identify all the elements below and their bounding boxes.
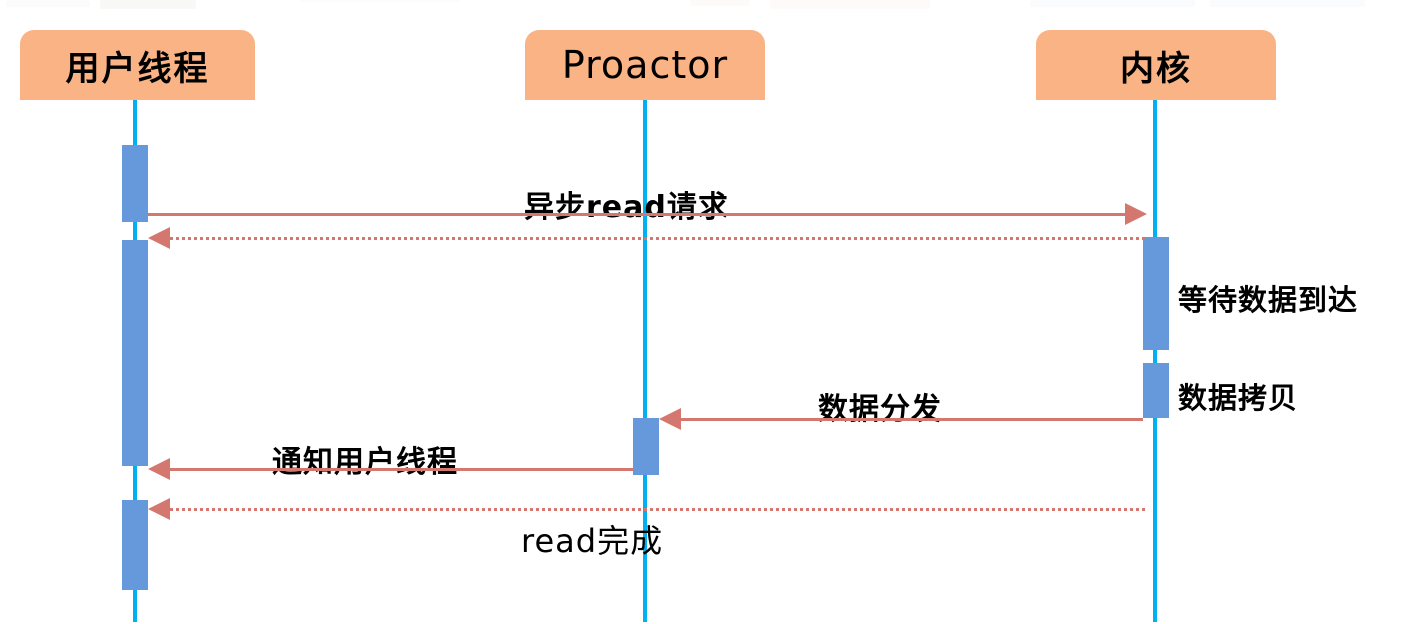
message-arrowhead-notify-user-thread <box>148 458 170 480</box>
participant-user-thread[interactable]: 用户线程 <box>20 30 255 100</box>
message-label-async-read-request: 异步read请求 <box>524 182 729 226</box>
participant-kernel[interactable]: 内核 <box>1036 30 1276 100</box>
note-copy-data: 数据拷贝 <box>1178 375 1298 417</box>
message-line-read-complete <box>170 508 1145 511</box>
lifeline-kernel <box>1153 100 1157 622</box>
sequence-diagram-canvas: 用户线程 Proactor 内核 异步read请求 等待数据到达 数据拷贝 数据… <box>0 0 1404 624</box>
activation-user-thread-3 <box>122 500 148 590</box>
page-artifact <box>1030 0 1195 7</box>
page-artifact <box>690 0 750 6</box>
note-wait-for-data: 等待数据到达 <box>1178 277 1358 319</box>
activation-kernel-2 <box>1143 363 1169 418</box>
message-arrowhead-async-read-request <box>1125 203 1147 225</box>
message-line-notify-user-thread <box>170 468 633 471</box>
participant-label: 用户线程 <box>66 41 210 90</box>
message-line-async-read-return <box>170 237 1145 240</box>
message-label-read-complete: read完成 <box>521 516 663 562</box>
participant-label: Proactor <box>562 43 728 87</box>
page-artifact <box>300 0 460 2</box>
message-arrowhead-async-read-return <box>148 227 170 249</box>
activation-user-thread-1 <box>122 145 148 222</box>
participant-label: 内核 <box>1120 41 1192 90</box>
message-label-notify-user-thread: 通知用户线程 <box>272 437 458 481</box>
participant-proactor[interactable]: Proactor <box>525 30 765 100</box>
message-line-data-dispatch <box>681 418 1143 421</box>
message-line-async-read-request <box>148 213 1127 216</box>
activation-kernel-1 <box>1143 237 1169 350</box>
activation-proactor-1 <box>633 418 659 475</box>
page-artifact <box>6 0 90 7</box>
page-artifact <box>1210 0 1365 7</box>
message-arrowhead-data-dispatch <box>659 408 681 430</box>
page-artifact <box>770 0 930 9</box>
message-label-data-dispatch: 数据分发 <box>818 384 942 428</box>
page-artifact <box>100 0 196 9</box>
activation-user-thread-2 <box>122 240 148 466</box>
message-arrowhead-read-complete <box>148 498 170 520</box>
